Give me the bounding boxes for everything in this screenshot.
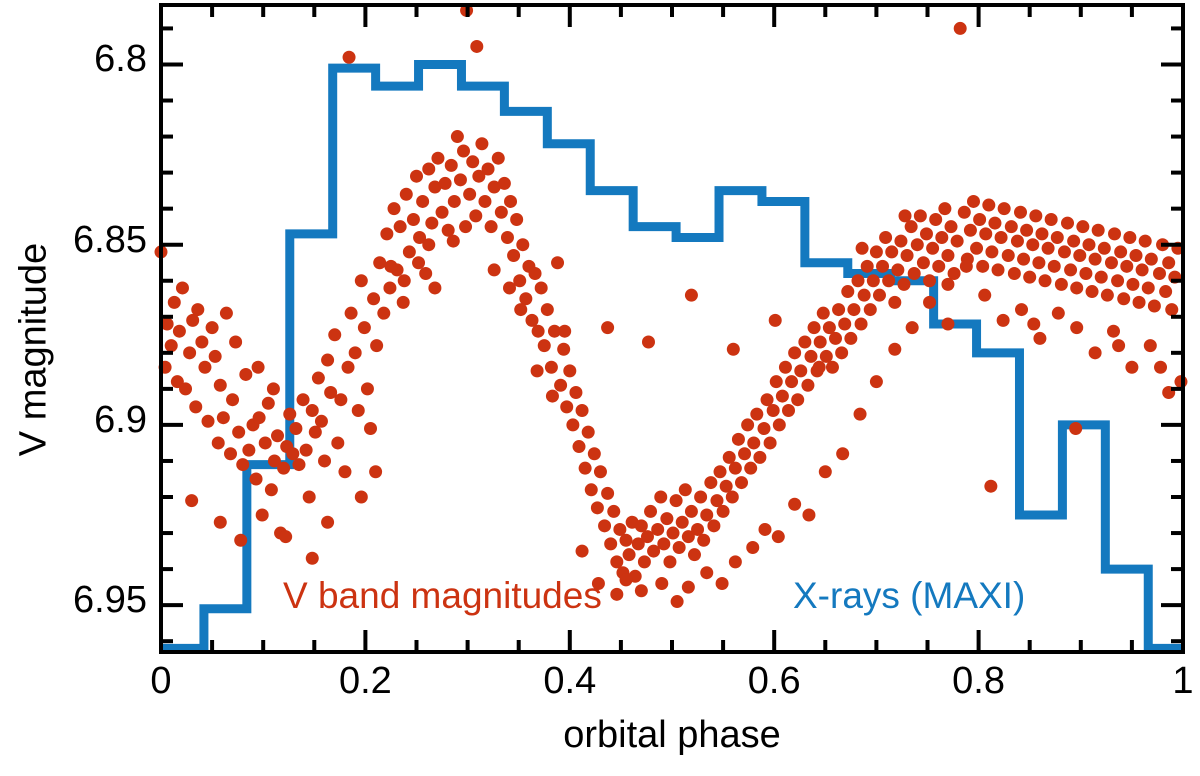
scatter-point	[607, 505, 620, 518]
scatter-point	[598, 519, 611, 532]
scatter-point	[300, 444, 313, 457]
scatter-point	[189, 400, 202, 413]
scatter-point	[277, 462, 290, 475]
scatter-point	[926, 242, 939, 255]
scatter-point	[727, 343, 740, 356]
scatter-point	[620, 573, 633, 586]
scatter-point	[271, 429, 284, 442]
scatter-point	[929, 213, 942, 226]
scatter-point	[283, 408, 296, 421]
scatter-point	[985, 245, 998, 258]
scatter-point	[306, 404, 319, 417]
scatter-point	[1070, 321, 1083, 334]
scatter-point	[844, 332, 857, 345]
scatter-point	[168, 296, 181, 309]
scatter-point	[841, 285, 854, 298]
scatter-point	[1098, 242, 1111, 255]
scatter-point	[545, 361, 558, 374]
scatter-point	[439, 177, 452, 190]
scatter-point	[856, 242, 869, 255]
scatter-point	[594, 465, 607, 478]
scatter-point	[516, 238, 529, 251]
scatter-point	[165, 339, 178, 352]
scatter-point	[1011, 235, 1024, 248]
scatter-point	[173, 325, 186, 338]
scatter-point	[554, 379, 567, 392]
scatter-point	[888, 343, 901, 356]
scatter-point	[1139, 235, 1152, 248]
scatter-point	[700, 509, 713, 522]
scatter-point	[403, 245, 416, 258]
scatter-point	[1033, 332, 1046, 345]
scatter-point	[864, 303, 877, 316]
scatter-point	[588, 447, 601, 460]
scatter-point	[882, 274, 895, 287]
scatter-point	[220, 307, 233, 320]
scatter-point	[1089, 346, 1102, 359]
scatter-point	[1145, 253, 1158, 266]
scatter-point	[1129, 249, 1142, 262]
scatter-point	[995, 231, 1008, 244]
scatter-point	[769, 314, 782, 327]
scatter-point	[412, 256, 425, 269]
scatter-point	[870, 375, 883, 388]
scatter-point	[770, 375, 783, 388]
scatter-point	[242, 444, 255, 457]
x-tick-label: 0.2	[305, 660, 425, 703]
scatter-point	[914, 209, 927, 222]
scatter-point	[651, 523, 664, 536]
scatter-point	[1117, 292, 1130, 305]
scatter-point	[292, 458, 305, 471]
scatter-point	[836, 447, 849, 460]
scatter-point	[757, 422, 770, 435]
scatter-point	[945, 220, 958, 233]
scatter-point	[492, 152, 505, 165]
scatter-point	[209, 350, 222, 363]
scatter-point	[697, 534, 710, 547]
scatter-point	[1014, 206, 1027, 219]
x-tick-label: 0.6	[714, 660, 834, 703]
scatter-point	[383, 281, 396, 294]
scatter-point	[306, 552, 319, 565]
scatter-point	[726, 491, 739, 504]
scatter-point	[1067, 235, 1080, 248]
scatter-point	[569, 386, 582, 399]
scatter-point	[1048, 260, 1061, 273]
scatter-point	[224, 447, 237, 460]
scatter-point	[832, 303, 845, 316]
x-tick-label: 1	[1123, 660, 1200, 703]
scatter-point	[226, 393, 239, 406]
scatter-point	[888, 296, 901, 309]
scatter-point	[1039, 274, 1052, 287]
scatter-point	[252, 361, 265, 374]
scatter-point	[601, 321, 614, 334]
scatter-point	[814, 336, 827, 349]
scatter-point	[232, 426, 245, 439]
scatter-point	[1162, 256, 1175, 269]
scatter-point	[1061, 217, 1074, 230]
scatter-point	[847, 303, 860, 316]
scatter-point	[776, 390, 789, 403]
scatter-point	[767, 404, 780, 417]
scatter-point	[801, 379, 814, 392]
scatter-point	[1114, 245, 1127, 258]
scatter-point	[428, 281, 441, 294]
scatter-point	[894, 235, 907, 248]
scatter-point	[941, 317, 954, 330]
scatter-point	[185, 494, 198, 507]
scatter-point	[1032, 256, 1045, 269]
scatter-point	[817, 307, 830, 320]
scatter-point	[457, 144, 470, 157]
scatter-point	[1005, 220, 1018, 233]
scatter-point	[744, 462, 757, 475]
scatter-point	[667, 527, 680, 540]
scatter-point	[854, 408, 867, 421]
scatter-point	[601, 487, 614, 500]
scatter-point	[1142, 281, 1155, 294]
y-tick-label: 6.9	[27, 399, 147, 442]
scatter-point	[1055, 278, 1068, 291]
scatter-point	[321, 354, 334, 367]
scatter-point	[259, 436, 272, 449]
scatter-point	[938, 202, 951, 215]
scatter-point	[964, 224, 977, 237]
scatter-point	[265, 483, 278, 496]
scatter-point	[779, 361, 792, 374]
scatter-point	[422, 238, 435, 251]
scatter-point	[682, 581, 695, 594]
scatter-point	[451, 130, 464, 143]
scatter-point	[746, 541, 759, 554]
scatter-point	[620, 534, 633, 547]
scatter-point	[398, 274, 411, 287]
scatter-point	[478, 195, 491, 208]
scatter-point	[1174, 375, 1187, 388]
scatter-point	[1076, 220, 1089, 233]
scatter-point	[217, 411, 230, 424]
x-tick-label: 0.4	[510, 660, 630, 703]
scatter-point	[663, 555, 676, 568]
scatter-point	[377, 307, 390, 320]
scatter-point	[1125, 361, 1138, 374]
scatter-point	[431, 152, 444, 165]
scatter-point	[206, 321, 219, 334]
scatter-point	[535, 281, 548, 294]
scatter-point	[463, 188, 476, 201]
scatter-point	[1126, 278, 1139, 291]
scatter-point	[495, 206, 508, 219]
scatter-point	[867, 274, 880, 287]
scatter-point	[610, 588, 623, 601]
scatter-point	[798, 336, 811, 349]
scatter-point	[514, 303, 527, 316]
scatter-point	[328, 328, 341, 341]
scatter-point	[732, 433, 745, 446]
scatter-point	[741, 418, 754, 431]
scatter-point	[388, 202, 401, 215]
scatter-point	[1101, 289, 1114, 302]
scatter-point	[704, 476, 717, 489]
scatter-point	[342, 361, 355, 374]
scatter-point	[364, 422, 377, 435]
scatter-point	[212, 436, 225, 449]
scatter-point	[256, 509, 269, 522]
scatter-point	[879, 231, 892, 244]
legend-label-v-band: V band magnitudes	[283, 575, 602, 617]
scatter-point	[591, 501, 604, 514]
scatter-point	[1136, 263, 1149, 276]
scatter-point	[318, 454, 331, 467]
scatter-point	[1112, 339, 1125, 352]
scatter-point	[753, 451, 766, 464]
scatter-point	[923, 274, 936, 287]
scatter-point	[183, 346, 196, 359]
scatter-point	[707, 519, 720, 532]
scatter-point	[573, 440, 586, 453]
x-tick-label: 0.8	[919, 660, 1039, 703]
scatter-point	[1086, 285, 1099, 298]
scatter-point	[250, 472, 263, 485]
scatter-point	[198, 361, 211, 374]
scatter-point	[897, 278, 910, 291]
scatter-point	[876, 260, 889, 273]
scatter-point	[997, 314, 1010, 327]
scatter-point	[1070, 281, 1083, 294]
scatter-point	[1035, 227, 1048, 240]
scatter-point	[1123, 231, 1136, 244]
scatter-point	[1023, 271, 1036, 284]
scatter-point	[579, 462, 592, 475]
scatter-point	[1064, 263, 1077, 276]
scatter-point	[466, 155, 479, 168]
scatter-point	[262, 397, 275, 410]
scatter-point	[488, 263, 501, 276]
scatter-point	[764, 436, 777, 449]
scatter-point	[1082, 238, 1095, 251]
scatter-point	[448, 195, 461, 208]
scatter-point	[214, 516, 227, 529]
scatter-point	[885, 245, 898, 258]
scatter-point	[370, 339, 383, 352]
scatter-point	[688, 548, 701, 561]
scatter-point	[1051, 231, 1064, 244]
scatter-point	[941, 249, 954, 262]
scatter-point	[960, 260, 973, 273]
legend-label-xray: X-rays (MAXI)	[793, 575, 1025, 617]
scatter-point	[338, 465, 351, 478]
scatter-point	[582, 426, 595, 439]
scatter-point	[482, 163, 495, 176]
scatter-point	[735, 476, 748, 489]
scatter-point	[855, 317, 868, 330]
scatter-point	[1073, 249, 1086, 262]
scatter-point	[988, 217, 1001, 230]
scatter-point	[394, 220, 407, 233]
scatter-point	[982, 199, 995, 212]
scatter-point	[978, 289, 991, 302]
scatter-point	[475, 137, 488, 150]
scatter-point	[654, 491, 667, 504]
scatter-point	[935, 231, 948, 244]
scatter-point	[454, 173, 467, 186]
scatter-point	[367, 292, 380, 305]
scatter-point	[694, 491, 707, 504]
scatter-point	[229, 336, 242, 349]
scatter-point	[858, 289, 871, 302]
scatter-point	[566, 418, 579, 431]
scatter-point	[267, 382, 280, 395]
scatter-point	[312, 372, 325, 385]
scatter-point	[1159, 285, 1172, 298]
scatter-point	[470, 40, 483, 53]
scatter-point	[355, 491, 368, 504]
scatter-point	[234, 534, 247, 547]
scatter-point	[802, 509, 815, 522]
scatter-point	[750, 408, 763, 421]
scatter-point	[794, 364, 807, 377]
scatter-point	[716, 577, 729, 590]
scatter-point	[407, 213, 420, 226]
scatter-point	[908, 267, 921, 280]
scatter-point	[829, 332, 842, 345]
scatter-point	[1133, 296, 1146, 309]
scatter-point	[670, 494, 683, 507]
scatter-point	[870, 245, 883, 258]
scatter-point	[1069, 422, 1082, 435]
scatter-point	[1148, 299, 1161, 312]
y-axis-label: V magnitude	[13, 120, 56, 580]
scatter-point	[819, 465, 832, 478]
scatter-point	[504, 195, 517, 208]
scatter-point	[1120, 260, 1133, 273]
y-tick-label: 6.95	[27, 579, 147, 622]
scatter-point	[289, 422, 302, 435]
scatter-point	[788, 346, 801, 359]
scatter-point	[447, 235, 460, 248]
scatter-point	[873, 289, 886, 302]
scatter-point	[906, 321, 919, 334]
scatter-point	[538, 339, 551, 352]
scatter-point	[560, 400, 573, 413]
scatter-point	[861, 260, 874, 273]
scatter-point	[813, 361, 826, 374]
scatter-point	[397, 296, 410, 309]
scatter-point	[410, 170, 423, 183]
scatter-point	[558, 325, 571, 338]
scatter-point	[973, 213, 986, 226]
scatter-point	[445, 159, 458, 172]
scatter-point	[1015, 303, 1028, 316]
scatter-point	[297, 393, 310, 406]
scatter-point	[501, 231, 514, 244]
scatter-point	[485, 220, 498, 233]
scatter-point	[419, 267, 432, 280]
scatter-point	[331, 436, 344, 449]
scatter-point	[679, 483, 692, 496]
scatter-point	[400, 188, 413, 201]
scatter-point	[772, 530, 785, 543]
scatter-point	[343, 51, 356, 64]
scatter-point	[498, 177, 511, 190]
scatter-point	[638, 555, 651, 568]
scatter-point	[838, 317, 851, 330]
scatter-point	[1153, 267, 1166, 280]
scatter-point	[1017, 253, 1030, 266]
scatter-point	[1029, 209, 1042, 222]
scatter-point	[920, 227, 933, 240]
scatter-point	[984, 480, 997, 493]
scatter-point	[469, 209, 482, 222]
scatter-point	[563, 364, 576, 377]
scatter-point	[852, 274, 865, 287]
scatter-point	[976, 260, 989, 273]
scatter-point	[380, 227, 393, 240]
scatter-point	[747, 436, 760, 449]
scatter-point	[303, 491, 316, 504]
scatter-point	[835, 346, 848, 359]
scatter-point	[1154, 361, 1167, 374]
scatter-point	[1008, 267, 1021, 280]
scatter-point	[685, 289, 698, 302]
scatter-point	[958, 206, 971, 219]
scatter-point	[546, 390, 559, 403]
y-tick-label: 6.8	[27, 38, 147, 81]
scatter-point	[236, 458, 249, 471]
scatter-point	[195, 336, 208, 349]
scatter-point	[384, 260, 397, 273]
scatter-point	[510, 213, 523, 226]
scatter-point	[700, 566, 713, 579]
scatter-point	[1052, 307, 1065, 320]
scatter-point	[369, 465, 382, 478]
scatter-point	[253, 411, 266, 424]
scatter-point	[352, 404, 365, 417]
scatter-point	[604, 537, 617, 550]
scatter-point	[992, 263, 1005, 276]
scatter-point	[782, 404, 795, 417]
scatter-point	[685, 505, 698, 518]
scatter-point	[729, 555, 742, 568]
scatter-point	[1092, 224, 1105, 237]
scatter-point	[729, 462, 742, 475]
scatter-point	[932, 260, 945, 273]
scatter-point	[923, 296, 936, 309]
figure-canvas: V magnitude orbital phase V band magnitu…	[0, 0, 1200, 776]
scatter-point	[676, 516, 689, 529]
scatter-point	[1105, 256, 1118, 269]
scatter-point	[1108, 227, 1121, 240]
scatter-point	[1089, 253, 1102, 266]
scatter-point	[791, 393, 804, 406]
scatter-point	[738, 447, 751, 460]
scatter-point	[642, 336, 655, 349]
scatter-point	[644, 505, 657, 518]
scatter-point	[557, 343, 570, 356]
scatter-point	[1107, 325, 1120, 338]
scatter-point	[373, 256, 386, 269]
scatter-point	[551, 256, 564, 269]
scatter-point	[191, 303, 204, 316]
scatter-point	[425, 217, 438, 230]
scatter-point	[239, 368, 252, 381]
scatter-point	[773, 418, 786, 431]
scatter-point	[1002, 249, 1015, 262]
scatter-point	[416, 195, 429, 208]
scatter-point	[785, 375, 798, 388]
